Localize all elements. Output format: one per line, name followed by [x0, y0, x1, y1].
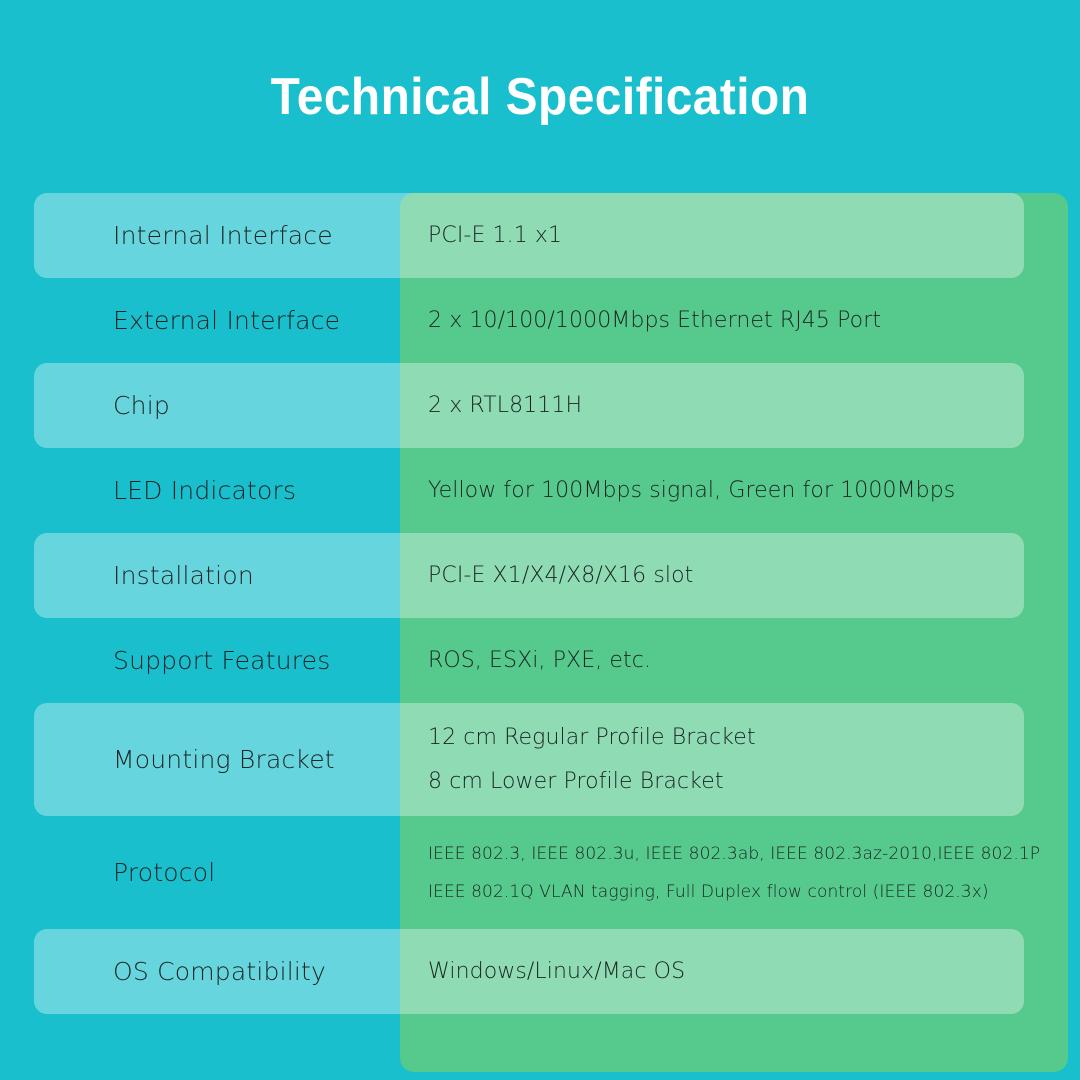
spec-value: IEEE 802.3, IEEE 802.3u, IEEE 802.3ab, I…	[400, 816, 1080, 929]
spec-value-line: Windows/Linux/Mac OS	[428, 957, 1056, 987]
spec-value: Windows/Linux/Mac OS	[400, 929, 1080, 1014]
spec-label: LED Indicators	[0, 448, 400, 533]
spec-value-line: ROS, ESXi, PXE, etc.	[428, 646, 1056, 676]
table-row: External Interface 2 x 10/100/1000Mbps E…	[0, 278, 1080, 363]
spec-label: Internal Interface	[0, 193, 400, 278]
table-row: Internal Interface PCI-E 1.1 x1	[0, 193, 1080, 278]
spec-value: PCI-E 1.1 x1	[400, 193, 1080, 278]
spec-value-line: PCI-E 1.1 x1	[428, 221, 1056, 251]
table-row: Mounting Bracket 12 cm Regular Profile B…	[0, 703, 1080, 816]
page-title: Technical Specification	[43, 66, 1037, 128]
spec-sheet-page: Technical Specification Internal Interfa…	[0, 0, 1080, 1080]
table-row: LED Indicators Yellow for 100Mbps signal…	[0, 448, 1080, 533]
table-row: OS Compatibility Windows/Linux/Mac OS	[0, 929, 1080, 1014]
spec-value-line: PCI-E X1/X4/X8/X16 slot	[428, 561, 1056, 591]
spec-value-line: IEEE 802.3, IEEE 802.3u, IEEE 802.3ab, I…	[428, 842, 1056, 866]
spec-label: Mounting Bracket	[0, 703, 400, 816]
spec-value: ROS, ESXi, PXE, etc.	[400, 618, 1080, 703]
spec-value-line: 2 x RTL8111H	[428, 391, 1056, 421]
specification-table: Internal Interface PCI-E 1.1 x1 External…	[0, 193, 1080, 1014]
spec-value: PCI-E X1/X4/X8/X16 slot	[400, 533, 1080, 618]
spec-value: Yellow for 100Mbps signal, Green for 100…	[400, 448, 1080, 533]
spec-value: 2 x RTL8111H	[400, 363, 1080, 448]
table-row: Chip 2 x RTL8111H	[0, 363, 1080, 448]
spec-value-line: 12 cm Regular Profile Bracket	[428, 723, 1056, 753]
spec-label: Installation	[0, 533, 400, 618]
spec-label: External Interface	[0, 278, 400, 363]
spec-value-line: 8 cm Lower Profile Bracket	[428, 767, 1056, 797]
spec-value: 12 cm Regular Profile Bracket 8 cm Lower…	[400, 703, 1080, 816]
spec-value-line: Yellow for 100Mbps signal, Green for 100…	[428, 476, 1056, 506]
spec-label: OS Compatibility	[0, 929, 400, 1014]
table-row: Installation PCI-E X1/X4/X8/X16 slot	[0, 533, 1080, 618]
spec-label: Support Features	[0, 618, 400, 703]
spec-value-line: 2 x 10/100/1000Mbps Ethernet RJ45 Port	[428, 306, 1056, 336]
spec-value-line: IEEE 802.1Q VLAN tagging, Full Duplex fl…	[428, 880, 1056, 904]
table-row: Protocol IEEE 802.3, IEEE 802.3u, IEEE 8…	[0, 816, 1080, 929]
table-row: Support Features ROS, ESXi, PXE, etc.	[0, 618, 1080, 703]
spec-value: 2 x 10/100/1000Mbps Ethernet RJ45 Port	[400, 278, 1080, 363]
spec-label: Protocol	[0, 816, 400, 929]
spec-label: Chip	[0, 363, 400, 448]
